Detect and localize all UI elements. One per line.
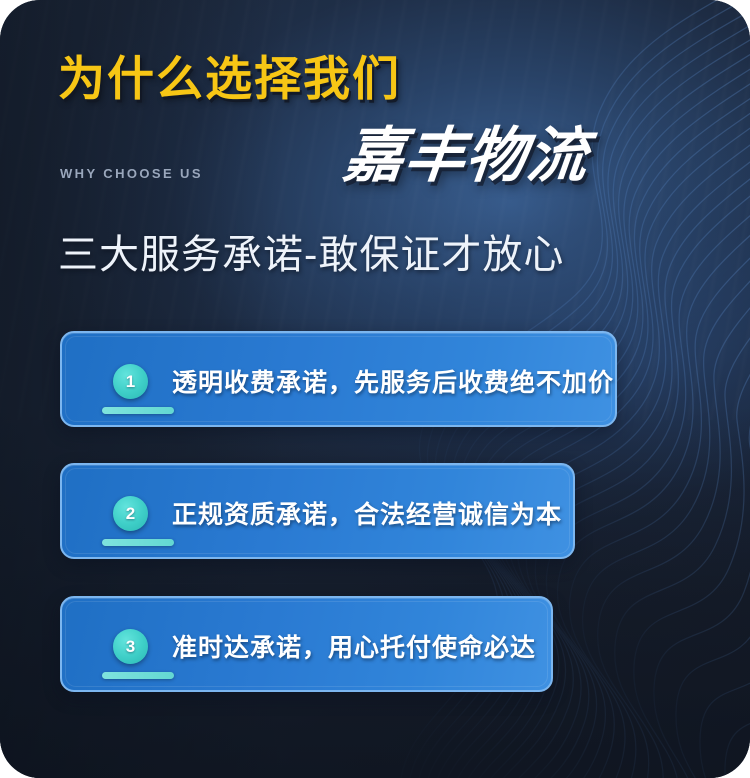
promise-card-1[interactable]: 1 透明收费承诺，先服务后收费绝不加价 — [60, 331, 617, 427]
promise-text: 正规资质承诺，合法经营诚信为本 — [172, 465, 562, 561]
promise-underline-bar — [102, 539, 174, 546]
promise-underline-bar — [102, 672, 174, 679]
promise-card-2[interactable]: 2 正规资质承诺，合法经营诚信为本 — [60, 463, 575, 559]
promo-poster: 为什么选择我们 WHY CHOOSE US 嘉丰物流 三大服务承诺-敢保证才放心… — [0, 0, 750, 778]
promise-underline-bar — [102, 407, 174, 414]
page-title: 为什么选择我们 — [58, 55, 401, 102]
promise-number-badge: 1 — [113, 364, 148, 399]
promise-number-badge: 3 — [113, 629, 148, 664]
promise-text: 准时达承诺，用心托付使命必达 — [172, 598, 536, 694]
page-subtitle-english: WHY CHOOSE US — [60, 166, 203, 181]
poster-content: 为什么选择我们 WHY CHOOSE US 嘉丰物流 三大服务承诺-敢保证才放心… — [0, 0, 750, 778]
promise-number-badge: 2 — [113, 496, 148, 531]
promise-text: 透明收费承诺，先服务后收费绝不加价 — [172, 333, 614, 429]
promise-card-3[interactable]: 3 准时达承诺，用心托付使命必达 — [60, 596, 553, 692]
brand-logo-text: 嘉丰物流 — [341, 126, 591, 186]
section-subtitle: 三大服务承诺-敢保证才放心 — [58, 232, 564, 278]
